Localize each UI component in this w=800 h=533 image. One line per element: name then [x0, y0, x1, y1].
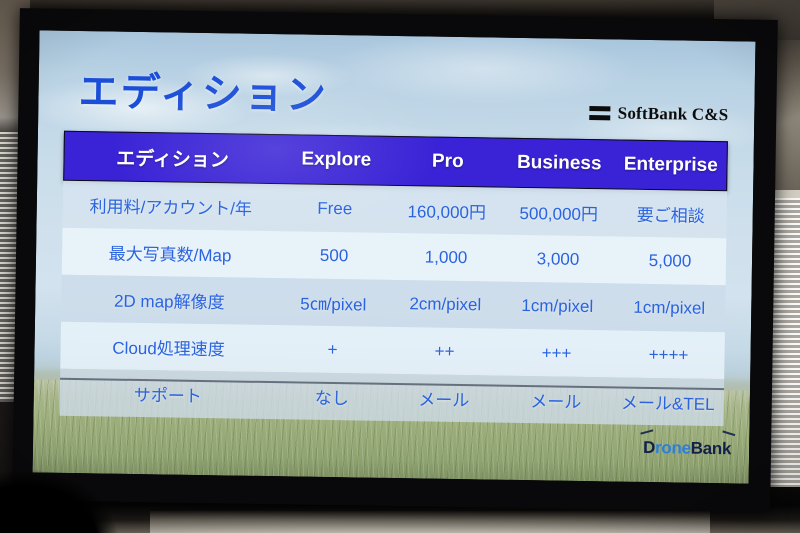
row-label: 利用料/アカウント/年 [63, 192, 279, 220]
foreground-silhouette [0, 437, 140, 533]
header-cell-pro: Pro [392, 150, 504, 174]
row-value: 500 [278, 245, 390, 267]
row-value: 3,000 [502, 248, 614, 270]
dronebank-logo-part3: Bank [691, 439, 732, 459]
softbank-bars-icon [590, 106, 611, 120]
row-value: メール [500, 387, 612, 414]
row-value: ++++ [612, 344, 724, 366]
row-value: 500,000円 [503, 199, 615, 226]
edition-comparison-table: エディション Explore Pro Business Enterprise 利… [60, 131, 728, 426]
row-label: Cloud処理速度 [60, 333, 276, 361]
row-value: メール [388, 385, 500, 412]
row-value: 1,000 [390, 246, 502, 268]
row-value: + [276, 339, 388, 361]
dronebank-logo-part1: D [643, 438, 655, 457]
row-value: Free [279, 198, 391, 220]
row-value: +++ [500, 342, 612, 364]
bottom-window [150, 511, 710, 533]
header-cell-enterprise: Enterprise [615, 153, 727, 177]
softbank-cs-logo: SoftBank C&S [590, 103, 729, 125]
row-label: 2D map解像度 [61, 286, 277, 314]
projection-screen: エディション SoftBank C&S エディション Explore Pro B… [33, 30, 756, 483]
row-value: 要ご相談 [615, 200, 727, 227]
row-value: なし [276, 383, 388, 410]
row-value: 5,000 [614, 250, 726, 272]
row-value: 1cm/pixel [613, 297, 725, 319]
row-value: メール&TEL [612, 388, 724, 415]
page-title: エディション [78, 59, 328, 121]
row-label: サポート [60, 380, 276, 408]
row-value: 2cm/pixel [389, 293, 501, 315]
row-value: 5㎝/pixel [277, 289, 389, 316]
row-value: ++ [388, 340, 500, 362]
presentation-photo: エディション SoftBank C&S エディション Explore Pro B… [0, 0, 800, 533]
header-cell-explore: Explore [280, 148, 392, 172]
dronebank-logo: DroneBank [643, 438, 731, 459]
header-cell-business: Business [503, 152, 615, 176]
slide: エディション SoftBank C&S エディション Explore Pro B… [33, 30, 756, 483]
header-cell-edition: エディション [64, 142, 280, 172]
row-label: 最大写真数/Map [62, 239, 278, 267]
softbank-logo-label: SoftBank C&S [618, 103, 729, 125]
row-value: 160,000円 [391, 197, 503, 224]
dronebank-logo-part2: rone [655, 438, 691, 458]
row-value: 1cm/pixel [501, 295, 613, 317]
